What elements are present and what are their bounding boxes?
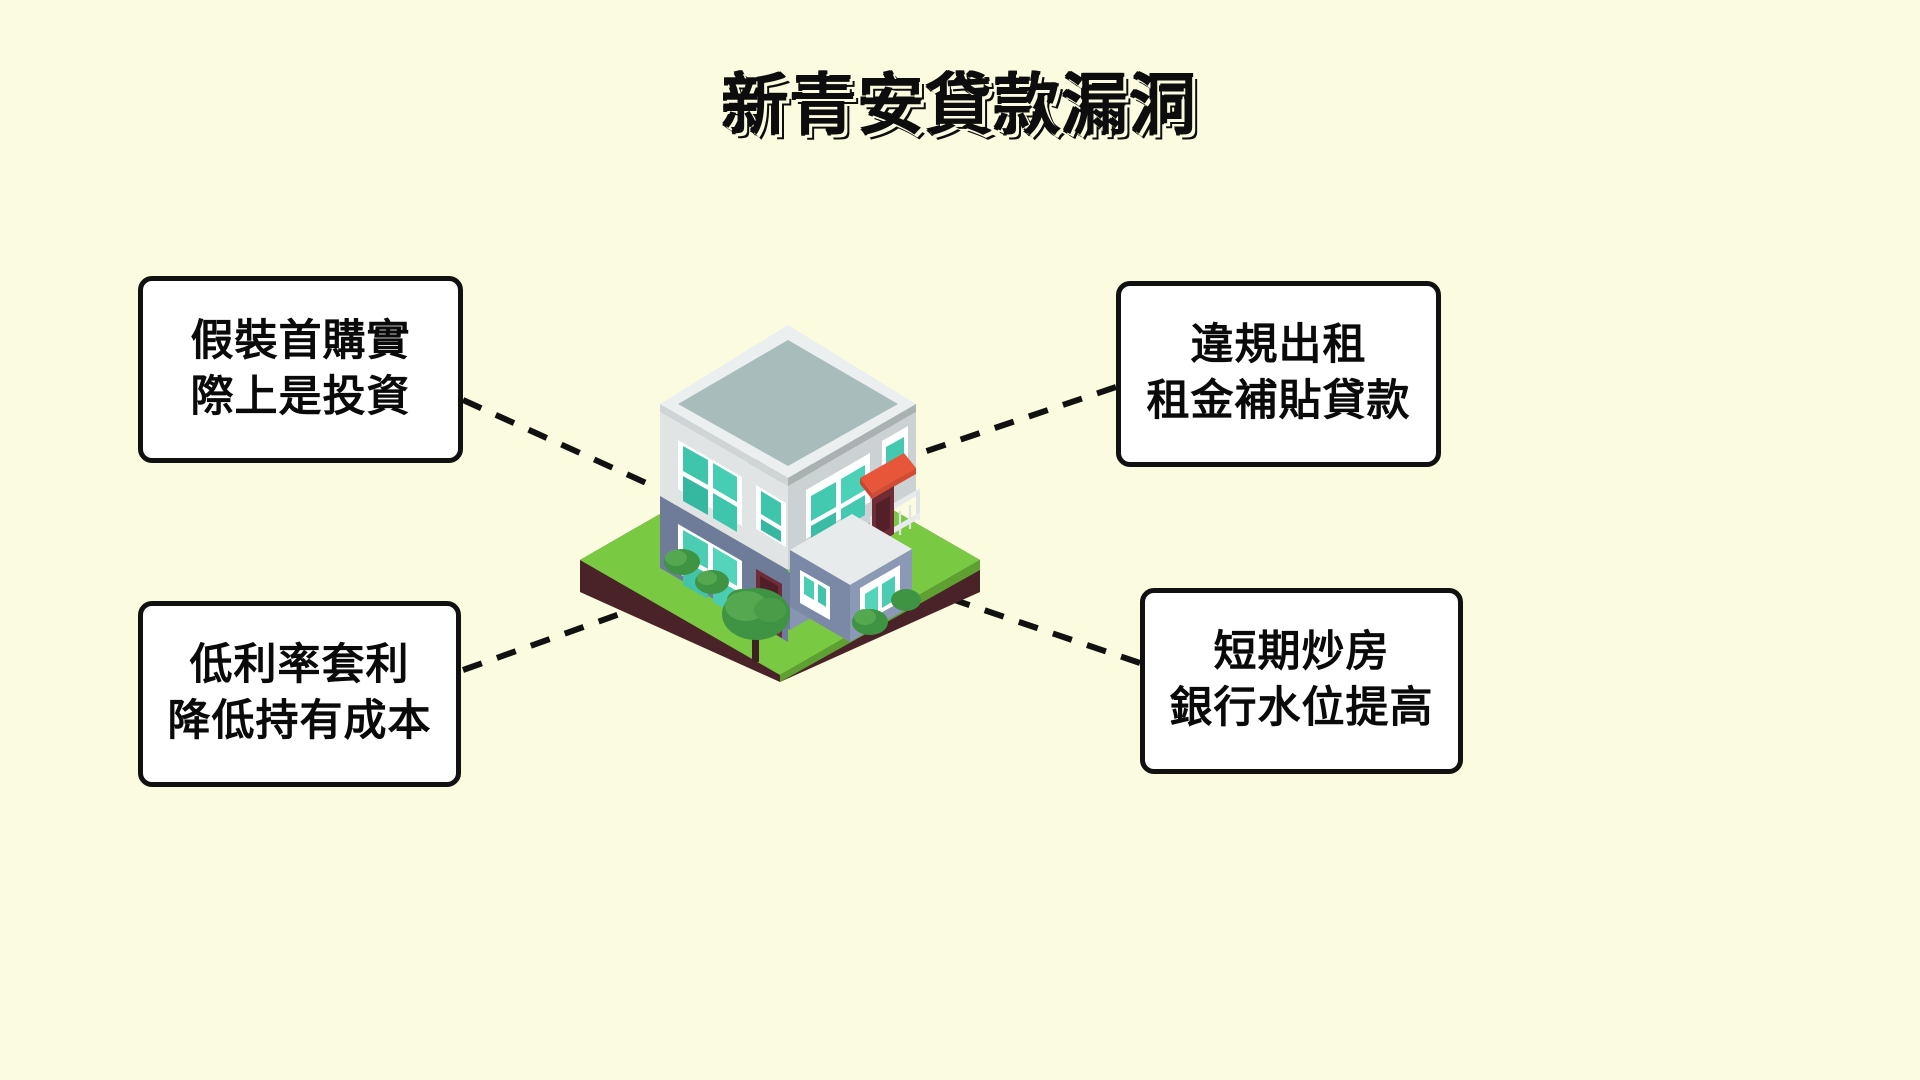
callout-line-2: 銀行水位提高 [1170,681,1434,737]
page-title: 新青安貸款漏洞 [0,52,1920,148]
callout-line-1: 短期炒房 [1214,625,1390,681]
callout-box-bottom-right[interactable]: 短期炒房 銀行水位提高 [1140,588,1463,774]
callout-line-2: 降低持有成本 [168,694,432,750]
bush-left-1 [664,549,700,575]
callout-line-1: 假裝首購實 [191,314,411,370]
callout-line-2: 租金補貼貸款 [1147,374,1411,430]
infographic-canvas: 新青安貸款漏洞 [0,0,1920,1080]
bush-right-2 [891,589,921,611]
bush-right-1 [852,609,888,635]
bush-left-2 [695,570,729,594]
callout-line-2: 際上是投資 [191,370,411,426]
callout-line-1: 低利率套利 [190,638,410,694]
callout-line-1: 違規出租 [1191,318,1367,374]
callout-box-bottom-left[interactable]: 低利率套利 降低持有成本 [138,601,461,787]
isometric-house-illustration [560,270,1000,690]
callout-box-top-right[interactable]: 違規出租 租金補貼貸款 [1116,281,1441,467]
callout-box-top-left[interactable]: 假裝首購實 際上是投資 [138,276,463,463]
